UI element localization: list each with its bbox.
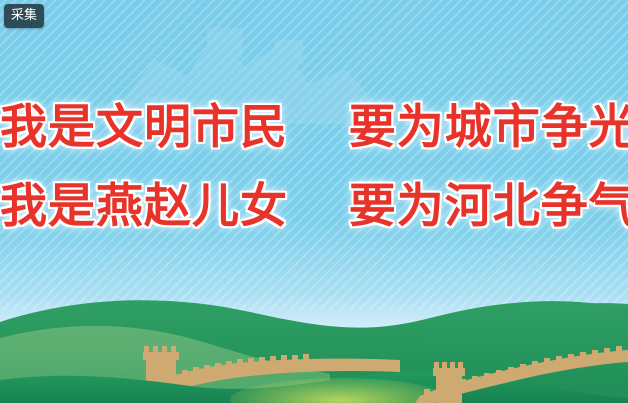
slogan-line-2: 我是燕赵儿女 要为河北争气	[0, 183, 628, 230]
capture-button[interactable]: 采集	[4, 4, 44, 28]
slogan-line-2-right: 要为河北争气	[349, 179, 628, 234]
slogan-line-2-left: 我是燕赵儿女	[0, 179, 288, 234]
slogan-line-1-right: 要为城市争光	[349, 100, 628, 155]
slogan-line-1: 我是文明市民 要为城市争光	[0, 104, 628, 151]
slogan-line-1-left: 我是文明市民	[0, 100, 288, 155]
poster-screenshot: 我是文明市民 要为城市争光 我是燕赵儿女 要为河北争气 采集	[0, 0, 628, 403]
